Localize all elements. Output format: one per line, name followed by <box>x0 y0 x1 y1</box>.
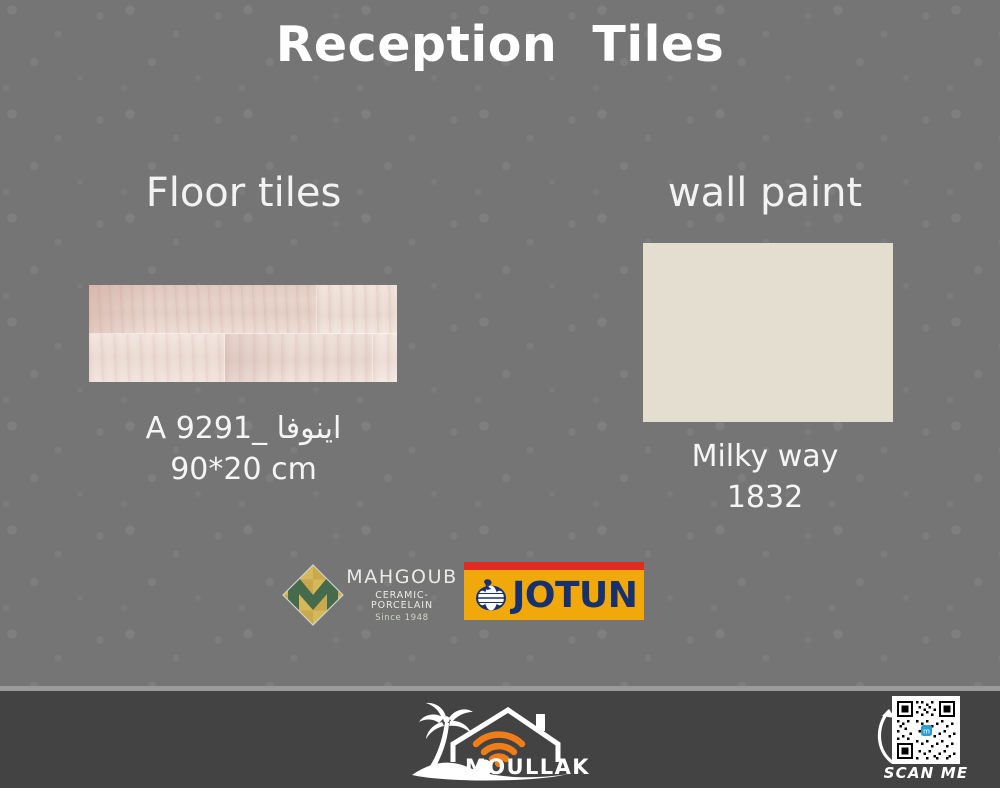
floor-tile-size: 90*20 cm <box>0 450 487 491</box>
column-heading-wall-paint: wall paint <box>545 170 985 216</box>
wall-paint-caption: Milky way 1832 <box>545 437 985 518</box>
floor-tile-code: A 9291_ اينوفا <box>146 411 342 446</box>
tile-seam-horizontal <box>89 333 397 334</box>
wall-paint-name: Milky way <box>692 439 839 474</box>
svg-text:m: m <box>923 728 930 736</box>
tile-plank <box>89 334 225 382</box>
floor-tile-swatch <box>89 285 397 382</box>
jotun-red-bar <box>464 562 644 570</box>
tile-seam-vertical <box>372 334 373 382</box>
floor-tile-caption: A 9291_ اينوفا 90*20 cm <box>0 409 487 490</box>
tile-seam-vertical <box>224 334 225 382</box>
poster-canvas: Reception Tiles Floor tiles wall paint A… <box>0 0 1000 788</box>
wall-paint-swatch <box>643 243 893 422</box>
mahgoub-subtitle: CERAMIC-PORCELAIN <box>346 591 458 611</box>
scan-qr-block[interactable]: m SCAN ME <box>862 694 980 786</box>
scan-me-label: SCAN ME <box>878 764 974 782</box>
jotun-wordmark: JOTUN <box>512 570 640 620</box>
jotun-logo: JOTUN <box>464 562 644 620</box>
wall-paint-code: 1832 <box>545 478 985 519</box>
mahgoub-logo: MAHGOUB CERAMIC-PORCELAIN Since 1948 <box>278 558 458 630</box>
mahgoub-diamond-m-icon <box>282 564 344 626</box>
mahgoub-since: Since 1948 <box>346 614 458 623</box>
qr-code[interactable]: m <box>892 696 960 764</box>
column-heading-floor-tiles: Floor tiles <box>0 170 487 216</box>
moullak-logo: MOULLAK <box>408 700 598 784</box>
page-title: Reception Tiles <box>0 16 1000 73</box>
mahgoub-wordmark-block: MAHGOUB CERAMIC-PORCELAIN Since 1948 <box>346 568 458 623</box>
tile-plank <box>373 334 397 382</box>
mahgoub-name: MAHGOUB <box>346 568 458 588</box>
tile-plank <box>317 285 397 334</box>
tile-seam-vertical <box>316 285 317 334</box>
tile-plank <box>225 334 373 382</box>
jotun-globe-icon <box>472 576 510 614</box>
tile-plank <box>89 285 317 334</box>
brand-logo-row: MAHGOUB CERAMIC-PORCELAIN Since 1948 <box>278 556 644 632</box>
